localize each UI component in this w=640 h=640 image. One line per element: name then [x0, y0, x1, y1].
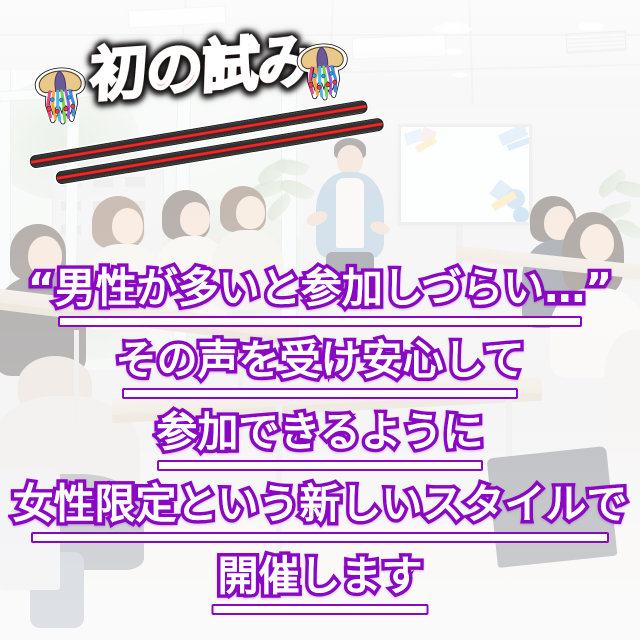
message-underline	[58, 316, 582, 327]
message-line-4: 女性限定という新しいスタイルで 女性限定という新しいスタイルで	[0, 484, 640, 526]
message-text: 女性限定という新しいスタイルで 女性限定という新しいスタイルで	[13, 484, 628, 526]
message-text: その声を受け安心して その声を受け安心して	[116, 340, 525, 382]
message-text: “男性が多いと参加しづらい…” “男性が多いと参加しづらい…”	[28, 268, 612, 310]
message-line-2: その声を受け安心して その声を受け安心して	[0, 340, 640, 382]
message-underline	[157, 460, 483, 471]
title-block: 初の試み	[28, 38, 348, 130]
message-underline	[122, 388, 518, 399]
message-text: 参加できるように 参加できるように	[156, 412, 483, 454]
message-line-5: 開催します 開催します	[0, 556, 640, 598]
title-text: 初の試み	[89, 32, 314, 105]
message-underline	[212, 604, 429, 615]
message-line-3: 参加できるように 参加できるように	[0, 412, 640, 454]
kusudama-icon	[294, 38, 352, 104]
message-line-1: “男性が多いと参加しづらい…” “男性が多いと参加しづらい…”	[0, 268, 640, 310]
message-underline	[31, 532, 609, 543]
poster-canvas: 初の試み	[0, 0, 640, 640]
kusudama-icon	[32, 62, 90, 128]
message-text: 開催します 開催します	[218, 556, 423, 598]
